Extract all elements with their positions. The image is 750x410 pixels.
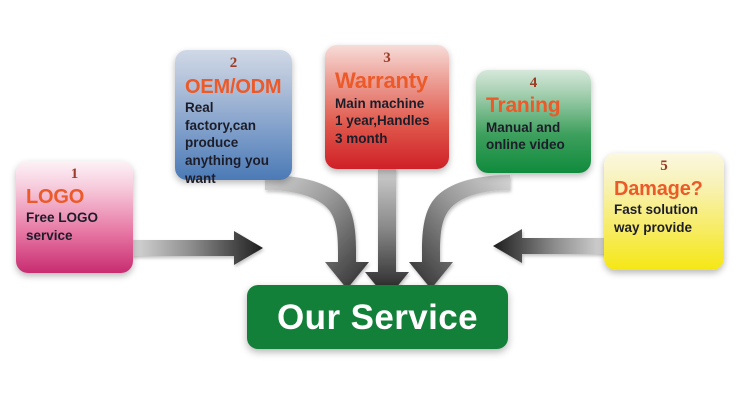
card-title: Damage? — [614, 178, 714, 200]
card-training[interactable]: 4 Traning Manual and online video — [476, 70, 591, 173]
card-desc-line: Manual and — [486, 119, 581, 137]
arrow-damage-to-service — [493, 229, 607, 263]
card-description: Manual and online video — [486, 119, 581, 154]
card-title: LOGO — [26, 186, 123, 208]
card-oem-odm[interactable]: 2 OEM/ODM Real factory,can produce anyth… — [175, 50, 292, 180]
arrow-oem-to-service — [265, 175, 369, 289]
card-warranty[interactable]: 3 Warranty Main machine 1 year,Handles 3… — [325, 45, 449, 169]
card-description: Real factory,can produce anything you wa… — [185, 99, 282, 187]
card-title: OEM/ODM — [185, 76, 282, 98]
card-badge-number: 2 — [175, 52, 292, 74]
card-description: Free LOGO service — [26, 209, 123, 244]
arrow-warranty-to-service — [365, 168, 409, 299]
card-desc-line: 1 year,Handles — [335, 112, 439, 130]
card-desc-line: anything you — [185, 152, 282, 170]
main-box-label: Our Service — [277, 300, 478, 335]
card-badge-number: 1 — [16, 163, 133, 185]
card-badge-number: 4 — [476, 72, 591, 94]
card-damage[interactable]: 5 Damage? Fast solution way provide — [604, 153, 724, 270]
main-box-our-service[interactable]: Our Service — [247, 285, 508, 349]
card-description: Main machine 1 year,Handles 3 month — [335, 95, 439, 148]
card-desc-line: want — [185, 170, 282, 188]
card-desc-line: service — [26, 227, 123, 245]
card-desc-line: 3 month — [335, 130, 439, 148]
card-desc-line: way provide — [614, 219, 714, 237]
arrow-logo-to-service — [131, 231, 263, 265]
diagram-canvas: 1 LOGO Free LOGO service 2 OEM/ODM Real … — [0, 0, 750, 410]
card-desc-line: Main machine — [335, 95, 439, 113]
card-desc-line: Real factory,can — [185, 99, 282, 134]
card-logo[interactable]: 1 LOGO Free LOGO service — [16, 161, 133, 273]
arrow-training-to-service — [409, 175, 510, 289]
card-title: Warranty — [335, 69, 439, 94]
card-title: Traning — [486, 94, 581, 118]
card-desc-line: produce — [185, 134, 282, 152]
card-desc-line: online video — [486, 136, 581, 154]
card-description: Fast solution way provide — [614, 201, 714, 236]
card-desc-line: Free LOGO — [26, 209, 123, 227]
card-desc-line: Fast solution — [614, 201, 714, 219]
card-badge-number: 3 — [325, 47, 449, 69]
card-badge-number: 5 — [604, 155, 724, 177]
